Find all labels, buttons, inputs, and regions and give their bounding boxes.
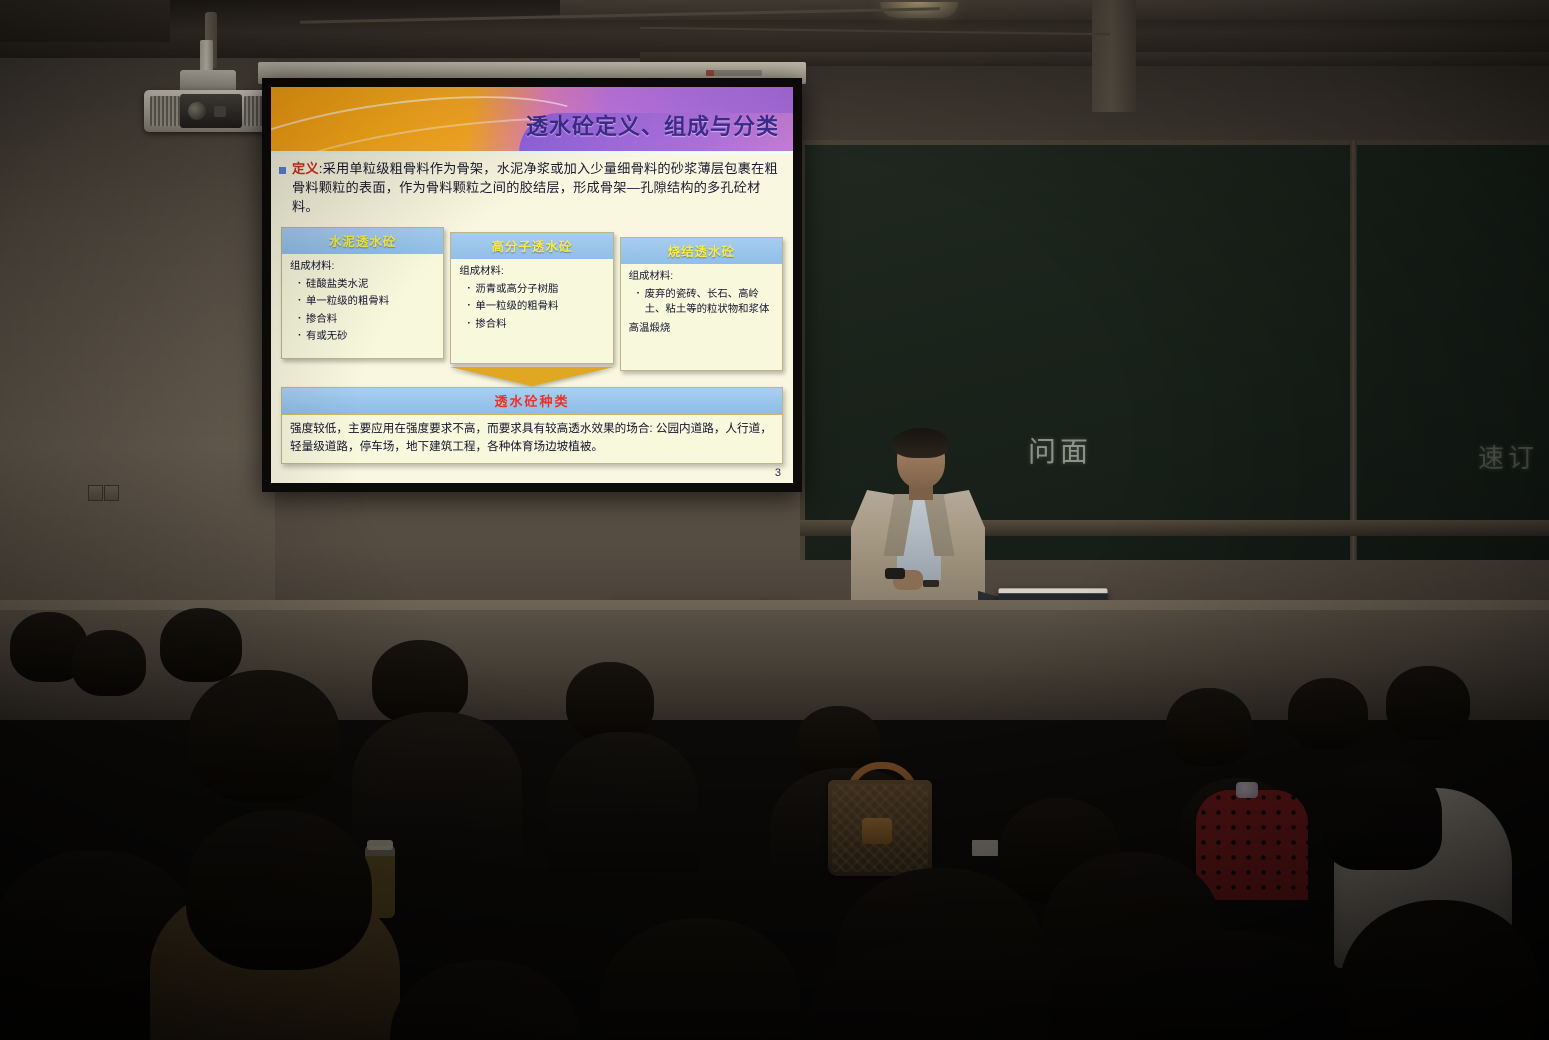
types-body: 强度较低，主要应用在强度要求不高，而要求具有较高透水效果的场合: 公园内道路，人… [282,415,782,463]
audience-torso [548,732,698,872]
audience-red-polka-top [1196,790,1308,900]
column-polymer-pervious-concrete: 高分子透水砼 组成材料: 沥青或高分子树脂 单一粒级的粗骨料 掺合料 [450,232,613,364]
list-item: 掺合料 [467,317,606,333]
column-1-header: 水泥透水砼 [282,228,443,254]
audience-head [160,608,242,682]
presentation-slide: 透水砼定义、组成与分类 定义:采用单粒级粗骨料作为骨架，水泥净浆或加入少量细骨料… [271,87,793,483]
presenter [845,432,990,612]
blackboard-divider [1350,140,1357,560]
audience-torso-foreground [1050,930,1350,1040]
audience-head [1386,666,1470,740]
slide-title: 透水砼定义、组成与分类 [526,109,779,141]
list-item: 掺合料 [298,312,437,328]
projector-focus-knob[interactable] [214,106,226,117]
slide-page-number: 3 [775,467,781,479]
column-2-header: 高分子透水砼 [451,233,612,259]
audience-head [1166,688,1252,766]
ceiling-column [1092,0,1136,112]
white-card-on-seat [972,840,998,856]
screen-brand-logo [706,70,762,76]
audience-head [72,630,146,696]
definition-label: 定义 [292,161,319,176]
header-underline [271,151,793,154]
chalk-note-1: 问面 [1028,430,1092,470]
column-3-tail: 高温煅烧 [629,321,776,337]
types-block: 透水砼种类 强度较低，主要应用在强度要求不高，而要求具有较高透水效果的场合: 公… [281,387,783,464]
definition-block: 定义:采用单粒级粗骨料作为骨架，水泥净浆或加入少量细骨料的砂浆薄层包裹在粗骨料颗… [279,159,785,216]
wall-switch-left[interactable] [88,485,103,501]
column-3-header: 烧结透水砼 [621,238,782,264]
list-item: 单一粒级的粗骨料 [467,299,606,315]
column-1-list: 硅酸盐类水泥 单一粒级的粗骨料 掺合料 有或无砂 [290,277,437,345]
audience-area [0,600,1549,1040]
handbag-clasp [862,818,892,844]
ceiling-duct [0,0,170,42]
lecture-hall-scene: 问面 速订 透水砼定义、组成与分类 定义:采用单粒级粗骨料作为骨架，水泥净浆或加… [0,0,1549,1040]
list-item: 有或无砂 [298,329,437,345]
list-item: 沥青或高分子树脂 [467,282,606,298]
column-sintered-pervious-concrete: 烧结透水砼 组成材料: 废弃的瓷砖、长石、高岭土、粘土等的粒状物和浆体 高温煅烧 [620,237,783,371]
presentation-clicker[interactable] [885,568,905,579]
column-2-list: 沥青或高分子树脂 单一粒级的粗骨料 掺合料 [459,282,606,333]
down-arrow-icon [450,367,614,386]
column-cement-pervious-concrete: 水泥透水砼 组成材料: 硅酸盐类水泥 单一粒级的粗骨料 掺合料 有或无砂 [281,227,444,359]
category-columns: 水泥透水砼 组成材料: 硅酸盐类水泥 单一粒级的粗骨料 掺合料 有或无砂 高分子… [281,227,783,371]
column-1-subtitle: 组成材料: [290,259,437,275]
projector-lens-icon [188,102,206,120]
definition-body: 采用单粒级粗骨料作为骨架，水泥净浆或加入少量细骨料的砂浆薄层包裹在粗骨料颗粒的表… [292,161,778,214]
bullet-square-icon [279,167,286,174]
types-header: 透水砼种类 [282,388,782,415]
column-3-subtitle: 组成材料: [629,269,776,285]
definition-text: 定义:采用单粒级粗骨料作为骨架，水泥净浆或加入少量细骨料的砂浆薄层包裹在粗骨料颗… [292,159,785,216]
list-item: 单一粒级的粗骨料 [298,294,437,310]
column-2-body: 组成材料: 沥青或高分子树脂 单一粒级的粗骨料 掺合料 [451,259,612,338]
audience-head-foreground [186,810,372,970]
audience-head [372,640,468,724]
projector-mount-pole [200,40,213,74]
projector-vent-left [150,96,180,126]
audience-head-foreground [600,918,800,1040]
column-1-body: 组成材料: 硅酸盐类水泥 单一粒级的粗骨料 掺合料 有或无砂 [282,254,443,351]
wall-switch-right[interactable] [104,485,119,501]
hair-clip [1236,782,1258,798]
audience-head [188,670,340,802]
column-3-list: 废弃的瓷砖、长石、高岭土、粘土等的粒状物和浆体 [629,287,776,318]
column-3-body: 组成材料: 废弃的瓷砖、长石、高岭土、粘土等的粒状物和浆体 高温煅烧 [621,264,782,340]
ceiling-beam-front [560,0,1549,20]
projection-screen: 透水砼定义、组成与分类 定义:采用单粒级粗骨料作为骨架，水泥净浆或加入少量细骨料… [262,78,802,492]
list-item: 废弃的瓷砖、长石、高岭土、粘土等的粒状物和浆体 [637,287,776,318]
presenter-watch [923,580,939,587]
chalk-note-2: 速订 [1478,438,1538,475]
audience-head [1288,678,1368,750]
list-item: 硅酸盐类水泥 [298,277,437,293]
presenter-hair [893,428,949,458]
audience-head [1322,760,1442,870]
column-2-subtitle: 组成材料: [459,264,606,280]
audience-head-foreground [390,960,580,1040]
audience-head [566,662,654,740]
